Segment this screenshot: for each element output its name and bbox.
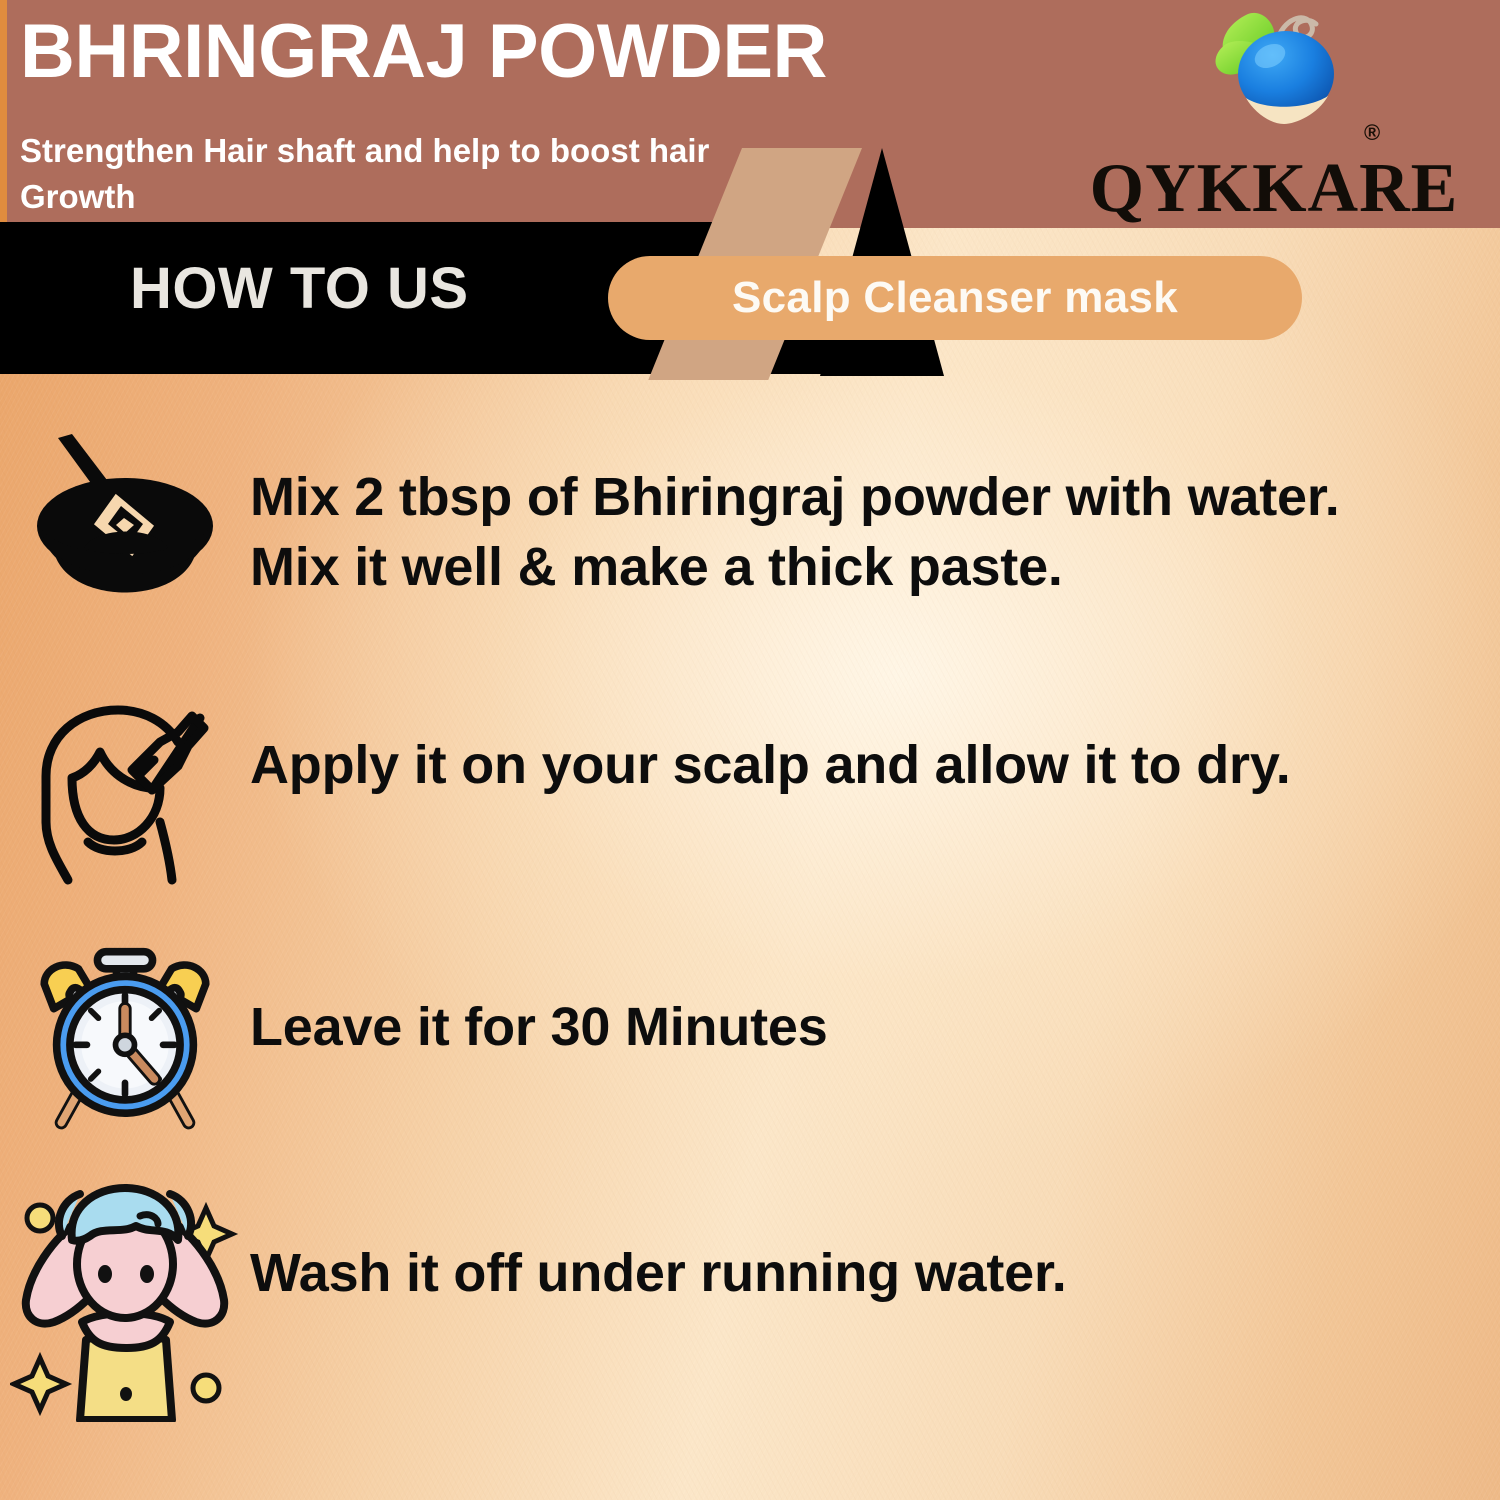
mixing-bowl-whisk-icon — [0, 420, 250, 630]
brand-logo: ® QYKKARE — [1074, 2, 1474, 228]
list-item: Leave it for 30 Minutes — [0, 930, 1500, 1136]
page-title: BHRINGRAJ POWDER — [20, 14, 827, 90]
product-tagline: Strengthen Hair shaft and help to boost … — [20, 128, 800, 219]
registered-trademark-icon: ® — [1364, 120, 1380, 146]
step-description: Apply it on your scalp and allow it to d… — [250, 688, 1500, 800]
apply-brush-to-scalp-icon — [0, 688, 250, 894]
list-item: Mix 2 tbsp of Bhiringraj powder with wat… — [0, 420, 1500, 630]
list-item: Wash it off under running water. — [0, 1170, 1500, 1422]
list-item: Apply it on your scalp and allow it to d… — [0, 688, 1500, 894]
brand-wordmark: QYKKARE — [1074, 154, 1474, 224]
infographic-poster: BHRINGRAJ POWDER Strengthen Hair shaft a… — [0, 0, 1500, 1500]
step-description: Leave it for 30 Minutes — [250, 930, 1500, 1062]
status-badge: Scalp Cleanser mask — [732, 273, 1178, 323]
step-description: Mix 2 tbsp of Bhiringraj powder with wat… — [250, 420, 1500, 602]
how-to-use-heading: HOW TO US — [130, 255, 469, 322]
alarm-clock-icon — [0, 930, 250, 1136]
washing-hair-person-icon — [0, 1170, 250, 1422]
berry-leaf-logo-icon — [1182, 4, 1372, 154]
step-description: Wash it off under running water. — [250, 1170, 1500, 1308]
scalp-cleanser-mask-badge: Scalp Cleanser mask — [608, 256, 1302, 340]
header-left-accent-strip — [0, 0, 7, 228]
